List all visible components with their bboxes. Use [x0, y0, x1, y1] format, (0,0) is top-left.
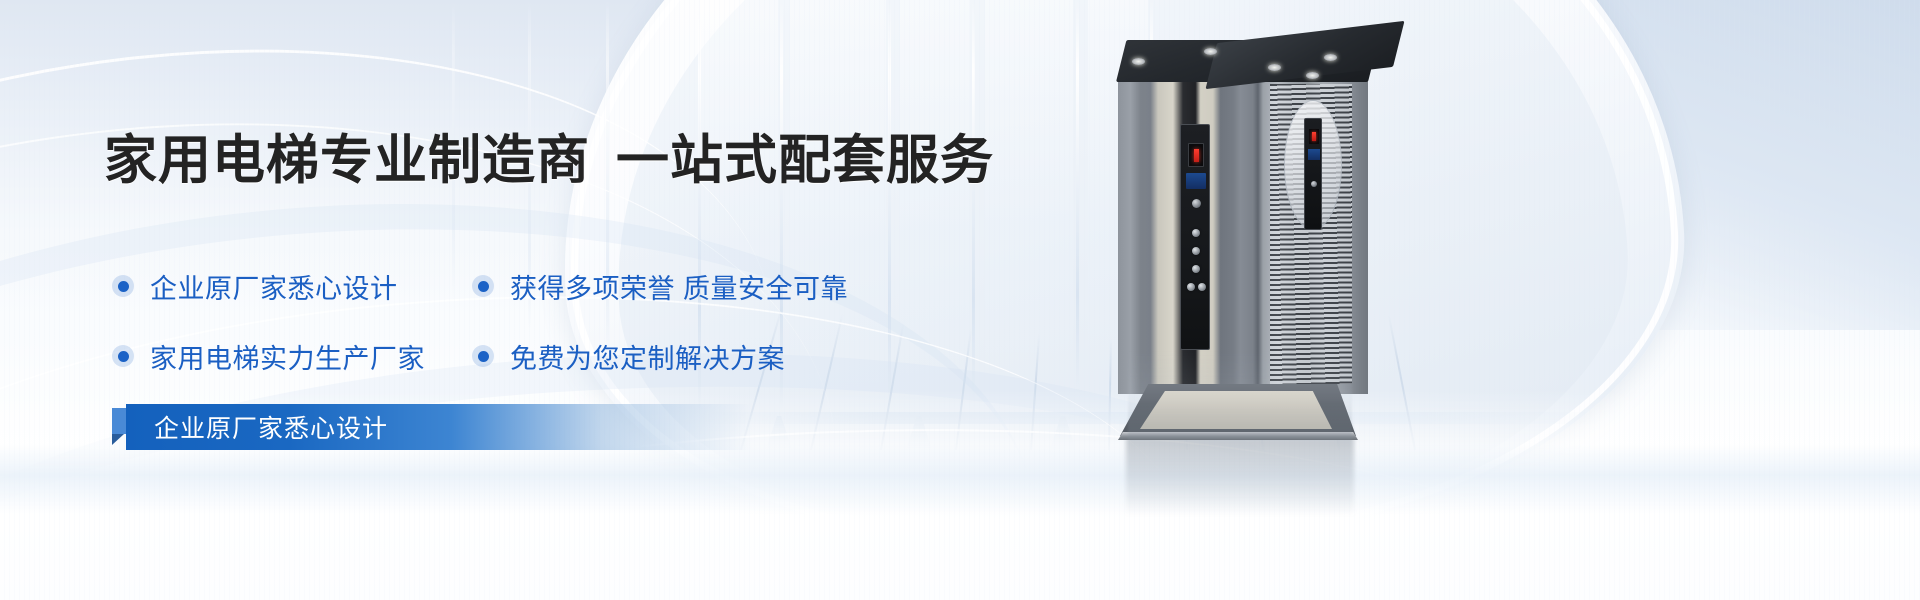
list-item: 获得多项荣誉 质量安全可靠 — [472, 267, 972, 306]
elevator-ceiling-light-icon — [1306, 72, 1319, 79]
feature-label: 免费为您定制解决方案 — [510, 337, 785, 376]
elevator-floor-button — [1192, 247, 1200, 255]
elevator-ceiling-light-icon — [1324, 54, 1337, 61]
promo-banner: 家用电梯专业制造商一站式配套服务 企业原厂家悉心设计 获得多项荣誉 质量安全可靠… — [0, 0, 1920, 600]
elevator-control-panel — [1180, 124, 1210, 350]
elevator-key-switch-icon — [1192, 199, 1201, 208]
ribbon-bar: 企业原厂家悉心设计 — [126, 404, 752, 450]
feature-label: 获得多项荣誉 质量安全可靠 — [510, 267, 848, 306]
feature-label: 企业原厂家悉心设计 — [150, 267, 398, 306]
elevator-inner-control-panel — [1304, 118, 1322, 230]
elevator-ceiling-light-icon — [1132, 58, 1145, 65]
elevator-door-open-button — [1187, 283, 1195, 291]
elevator-inner-display — [1309, 129, 1319, 144]
elevator-floor-button — [1192, 265, 1200, 273]
bullet-dot-icon — [472, 275, 494, 297]
page-title: 家用电梯专业制造商一站式配套服务 — [104, 118, 994, 194]
ribbon-label: 企业原厂家悉心设计 — [154, 409, 388, 445]
bullet-dot-icon — [112, 275, 134, 297]
banner-content: 家用电梯专业制造商一站式配套服务 企业原厂家悉心设计 获得多项荣誉 质量安全可靠… — [0, 0, 1120, 600]
headline-part-1: 家用电梯专业制造商 — [104, 131, 590, 190]
list-item: 企业原厂家悉心设计 — [112, 267, 472, 306]
elevator-reflection — [1128, 350, 1352, 440]
elevator-door-close-button — [1198, 283, 1206, 291]
elevator-brand-label — [1186, 173, 1206, 189]
feature-list: 企业原厂家悉心设计 获得多项荣誉 质量安全可靠 家用电梯实力生产厂家 免费为您定… — [112, 258, 972, 384]
bullet-dot-icon — [112, 345, 134, 367]
list-item: 家用电梯实力生产厂家 — [112, 337, 472, 376]
home-elevator-image — [1118, 40, 1368, 420]
elevator-ceiling-light-icon — [1268, 64, 1281, 71]
highlight-ribbon[interactable]: 企业原厂家悉心设计 — [112, 404, 752, 450]
elevator-floor-display — [1188, 143, 1204, 167]
bullet-dot-icon — [472, 345, 494, 367]
list-item: 免费为您定制解决方案 — [472, 337, 972, 376]
elevator-floor-button — [1192, 229, 1200, 237]
elevator-ceiling-light-icon — [1204, 48, 1217, 55]
headline-part-2: 一站式配套服务 — [616, 131, 994, 190]
elevator-inner-knob-icon — [1311, 181, 1317, 187]
elevator-inner-brand-label — [1308, 149, 1320, 160]
elevator-reflection-soft — [1126, 438, 1354, 516]
feature-label: 家用电梯实力生产厂家 — [150, 337, 425, 376]
